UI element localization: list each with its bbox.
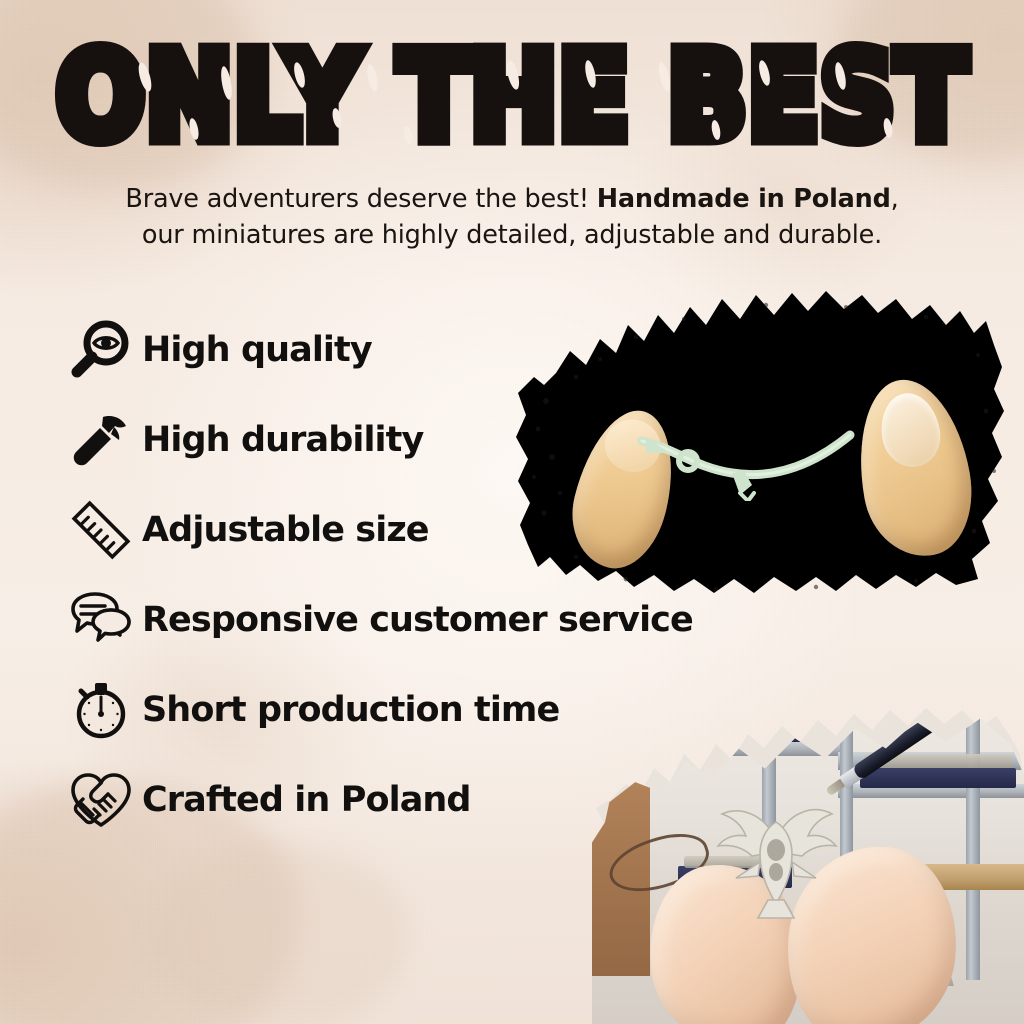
subtitle-highlight: Handmade in Poland <box>597 184 891 214</box>
fingernail <box>875 389 945 472</box>
ruler-icon <box>60 491 142 569</box>
feature-label: Crafted in Poland <box>142 780 471 820</box>
title-block: ONLY THE BEST <box>0 36 1024 140</box>
feature-label: Responsive customer service <box>142 600 693 640</box>
stopwatch-icon <box>60 671 142 749</box>
handshake-heart-icon <box>60 761 142 839</box>
feature-label: High quality <box>142 330 372 370</box>
subtitle-line2: our miniatures are highly detailed, adju… <box>142 220 882 250</box>
feature-item-adjustable-size: Adjustable size <box>60 485 760 575</box>
page-title: ONLY THE BEST <box>56 36 967 157</box>
feature-label: Short production time <box>142 690 559 730</box>
feature-item-high-quality: High quality <box>60 305 760 395</box>
speech-bubbles-icon <box>60 581 142 659</box>
feature-list: High quality High durability <box>60 305 760 845</box>
feature-item-production-time: Short production time <box>60 665 760 755</box>
feature-item-customer-service: Responsive customer service <box>60 575 760 665</box>
feature-label: Adjustable size <box>142 510 429 550</box>
promo-poster: ONLY THE BEST Brave adventurers deserve … <box>0 0 1024 1024</box>
hammer-icon <box>60 401 142 479</box>
feature-label: High durability <box>142 420 423 460</box>
feature-item-crafted-in-poland: Crafted in Poland <box>60 755 760 845</box>
subtitle-tail: , <box>891 184 899 214</box>
magnifier-eye-icon <box>60 311 142 389</box>
feature-item-high-durability: High durability <box>60 395 760 485</box>
subtitle: Brave adventurers deserve the best! Hand… <box>62 181 962 253</box>
subtitle-lead: Brave adventurers deserve the best! <box>125 184 596 214</box>
